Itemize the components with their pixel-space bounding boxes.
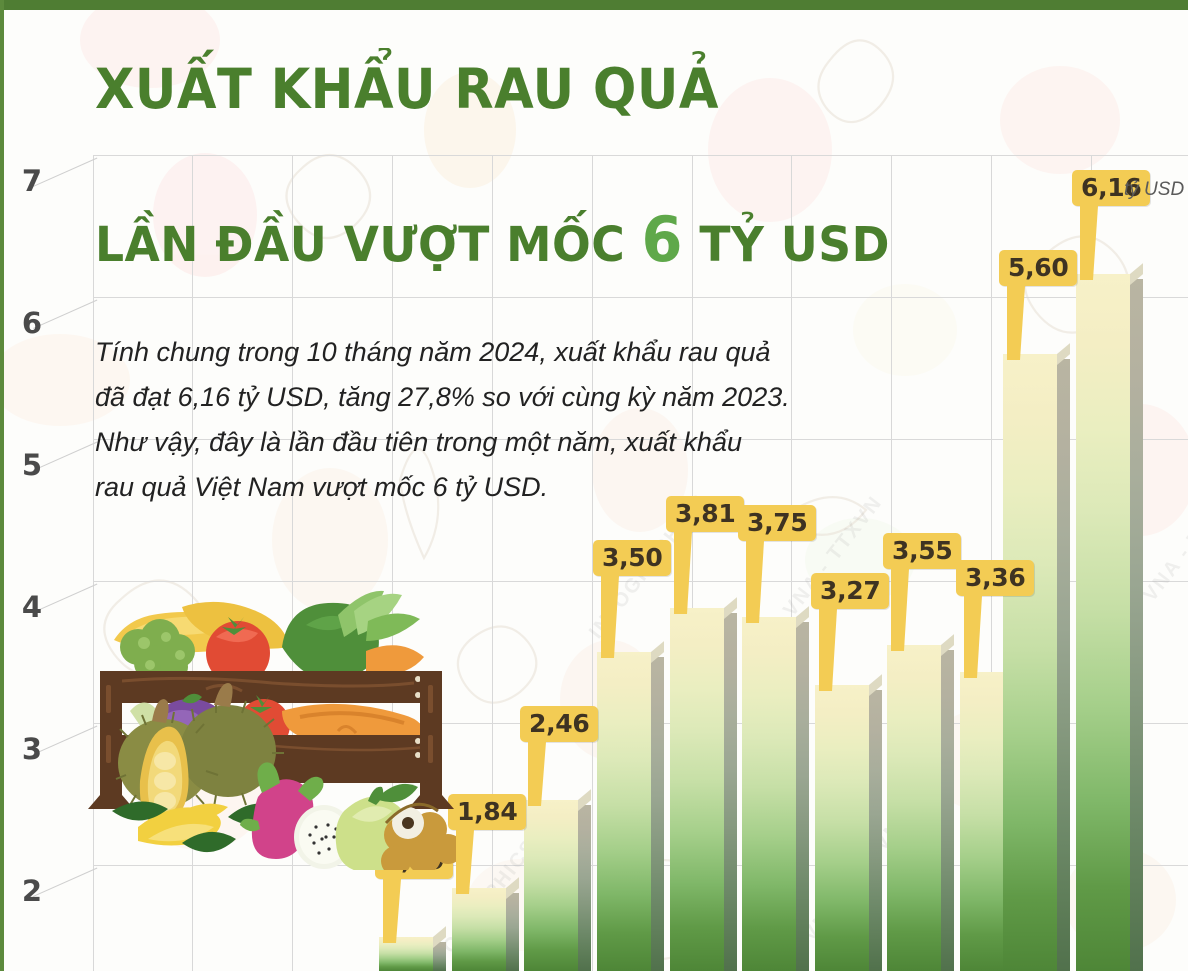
subtitle-prefix: LẦN ĐẦU VƯỢT MỐC: [95, 217, 642, 273]
bar-front-face: [452, 888, 506, 971]
bar-side-face: [578, 805, 591, 971]
page-title: XUẤT KHẨU RAU QUẢ: [95, 57, 719, 121]
bar-side-face: [796, 622, 809, 971]
bar-side-face: [724, 613, 737, 971]
callout-tail: [746, 541, 764, 623]
bar-side-face: [1057, 359, 1070, 971]
bar-front-face: [1076, 274, 1130, 971]
bar-3-55: [887, 645, 941, 971]
callout-value-label: 5,60: [999, 250, 1077, 286]
callout-tail: [819, 609, 837, 691]
value-callout-3-50: 3,50: [593, 540, 671, 576]
body-paragraph: Tính chung trong 10 tháng năm 2024, xuất…: [95, 330, 925, 510]
page-subtitle: LẦN ĐẦU VƯỢT MỐC 6 TỶ USD: [95, 203, 890, 276]
callout-value-label: 3,27: [811, 573, 889, 609]
value-callout-3-36: 3,36: [956, 560, 1034, 596]
unit-label: tỷ USD: [1124, 179, 1184, 201]
value-callout-3-27: 3,27: [811, 573, 889, 609]
callout-value-label: 1,84: [448, 794, 526, 830]
fruit-vegetable-crate-illustration: [86, 585, 456, 870]
bar-2-46: [524, 800, 578, 971]
bar-front-face: [670, 608, 724, 971]
bar-3-50: [597, 652, 651, 971]
y-tick-4: 4: [10, 590, 54, 624]
y-tick-2: 2: [10, 874, 54, 908]
callout-tail: [601, 576, 619, 658]
body-line-4: rau quả Việt Nam vượt mốc 6 tỷ USD.: [95, 465, 925, 510]
value-callout-1-84: 1,84: [448, 794, 526, 830]
bar-5-60: [1003, 354, 1057, 971]
subtitle-highlight-number: 6: [642, 203, 683, 276]
bar-1-84: [452, 888, 506, 971]
callout-tail: [891, 569, 909, 651]
value-callout-2-46: 2,46: [520, 706, 598, 742]
bar-front-face: [597, 652, 651, 971]
bar-side-face: [651, 657, 664, 971]
callout-tail: [674, 532, 692, 614]
bar-front-face: [815, 685, 869, 971]
bar-front-face: [524, 800, 578, 971]
subtitle-suffix: TỶ USD: [683, 217, 890, 273]
callout-tail: [456, 830, 474, 894]
y-tick-5: 5: [10, 448, 54, 482]
callout-tail: [964, 596, 982, 678]
bar-side-face: [1130, 279, 1143, 971]
body-line-1: Tính chung trong 10 tháng năm 2024, xuất…: [95, 330, 925, 375]
callout-tail: [383, 879, 401, 943]
bar-3-27: [815, 685, 869, 971]
bar-side-face: [506, 893, 519, 971]
infographic-canvas: 7 6 5 4 3 2 VNA - TTXVN INFOGRAPHICS VNA…: [0, 0, 1188, 971]
callout-tail: [1080, 206, 1098, 280]
callout-tail: [528, 742, 546, 806]
bar-3-81: [670, 608, 724, 971]
callout-value-label: 3,36: [956, 560, 1034, 596]
bar-6-16: [1076, 274, 1130, 971]
y-tick-3: 3: [10, 732, 54, 766]
top-border: [0, 0, 1188, 10]
callout-value-label: 3,50: [593, 540, 671, 576]
value-callout-3-55: 3,55: [883, 533, 961, 569]
body-line-3: Như vậy, đây là lần đầu tiên trong một n…: [95, 420, 925, 465]
bar-side-face: [433, 942, 446, 971]
left-border: [0, 0, 4, 971]
callout-value-label: 2,46: [520, 706, 598, 742]
bar-front-face: [1003, 354, 1057, 971]
y-tick-6: 6: [10, 306, 54, 340]
bar-front-face: [887, 645, 941, 971]
bar-side-face: [869, 690, 882, 971]
bar-front-face: [742, 617, 796, 971]
y-tick-7: 7: [10, 164, 54, 198]
bar-side-face: [941, 650, 954, 971]
value-callout-5-60: 5,60: [999, 250, 1077, 286]
bar-3-75: [742, 617, 796, 971]
callout-tail: [1007, 286, 1025, 360]
callout-value-label: 3,55: [883, 533, 961, 569]
body-line-2: đã đạt 6,16 tỷ USD, tăng 27,8% so với cù…: [95, 375, 925, 420]
